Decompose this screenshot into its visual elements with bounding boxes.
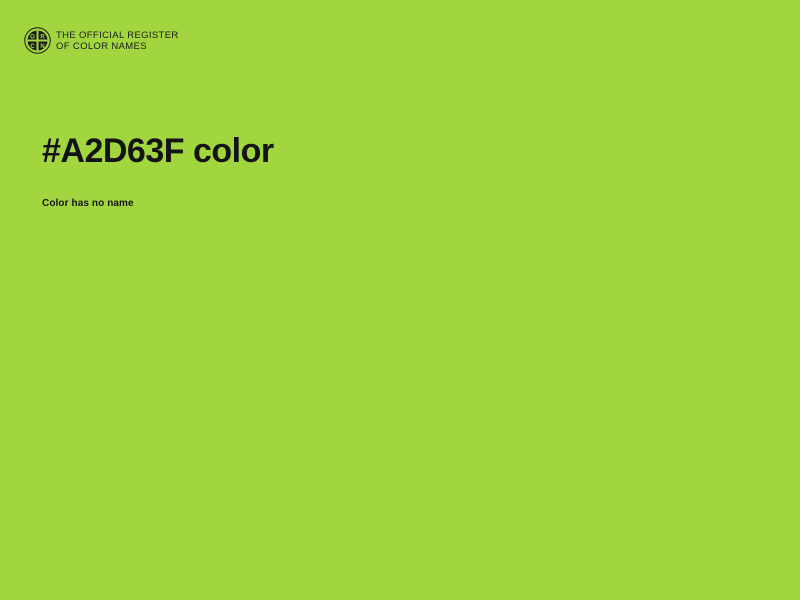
page-title: #A2D63F color	[42, 130, 274, 172]
brand-lockup[interactable]: O R C N THE OFFICIAL REGISTER OF COLOR N…	[24, 27, 179, 54]
brand-line-2: OF COLOR NAMES	[56, 41, 179, 52]
brand-wordmark: THE OFFICIAL REGISTER OF COLOR NAMES	[56, 29, 179, 52]
svg-text:C: C	[30, 44, 35, 50]
svg-text:N: N	[40, 44, 44, 50]
color-info-block: #A2D63F color Color has no name	[42, 130, 274, 209]
svg-text:O: O	[30, 35, 35, 41]
svg-text:R: R	[40, 35, 45, 41]
brand-line-1: THE OFFICIAL REGISTER	[56, 30, 179, 41]
register-seal-icon: O R C N	[24, 27, 51, 54]
color-name-status: Color has no name	[42, 198, 274, 209]
